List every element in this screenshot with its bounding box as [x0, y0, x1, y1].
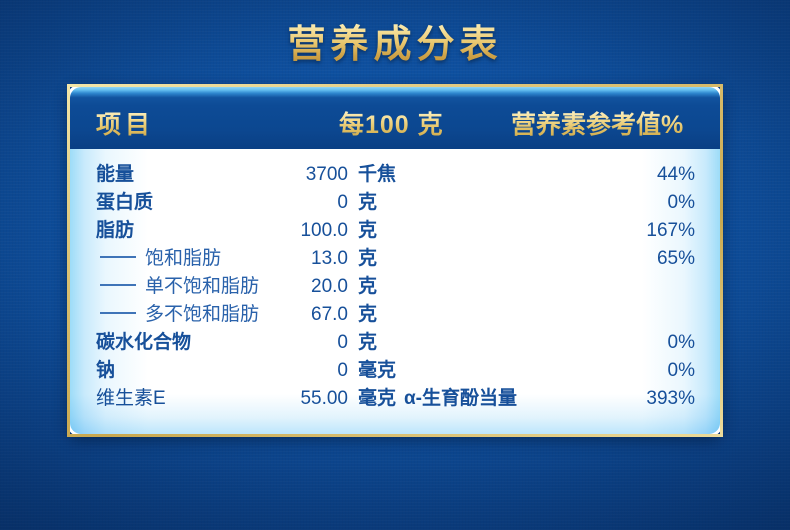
nutrient-unit: 克 — [358, 301, 377, 329]
nutrient-name: 钠 — [96, 357, 115, 385]
sub-item-dash-icon — [100, 256, 136, 258]
nutrient-name: 维生素E — [96, 385, 166, 413]
table-row: 脂肪100.0克167% — [70, 217, 720, 245]
nutrient-value: 20.0 — [220, 273, 348, 301]
nutrient-label: 碳水化合物 — [96, 332, 191, 353]
nutrient-unit: 克 — [358, 245, 377, 273]
nutrient-value: 0 — [220, 357, 348, 385]
nutrient-nrv-percent: 65% — [657, 245, 695, 273]
table-header-row: 项目 每100 克 营养素参考值% — [70, 87, 720, 149]
nutrient-value: 0 — [220, 329, 348, 357]
nutrient-name: 饱和脂肪 — [100, 245, 221, 273]
nutrient-nrv-percent: 0% — [668, 189, 695, 217]
table-row: 能量3700千焦44% — [70, 161, 720, 189]
table-row: 碳水化合物0克0% — [70, 329, 720, 357]
nutrient-value: 55.00 — [220, 385, 348, 413]
nutrient-label: 钠 — [96, 360, 115, 381]
table-row: 蛋白质0克0% — [70, 189, 720, 217]
nutrient-label: 脂肪 — [96, 220, 134, 241]
nutrient-value: 0 — [220, 189, 348, 217]
nutrient-label: 维生素E — [96, 388, 166, 409]
sub-item-dash-icon — [100, 312, 136, 314]
nutrient-value: 3700 — [220, 161, 348, 189]
table-row: 饱和脂肪13.0克65% — [70, 245, 720, 273]
nutrition-facts-panel: 营养成分表 项目 每100 克 营养素参考值% 能量3700千焦44%蛋白质0克… — [0, 0, 790, 530]
nutrient-nrv-percent: 0% — [668, 329, 695, 357]
nutrient-unit: 克 — [358, 189, 377, 217]
column-header-per-100g: 每100 克 — [339, 110, 444, 140]
nutrition-table-card: 项目 每100 克 营养素参考值% 能量3700千焦44%蛋白质0克0%脂肪10… — [67, 84, 723, 437]
nutrient-label: 饱和脂肪 — [145, 248, 221, 269]
column-header-nrv: 营养素参考值% — [511, 110, 683, 140]
nutrient-unit: 克 — [358, 217, 377, 245]
table-row: 单不饱和脂肪20.0克 — [70, 273, 720, 301]
nutrient-label: 能量 — [96, 164, 134, 185]
column-header-item: 项目 — [96, 110, 154, 140]
nutrient-label: 蛋白质 — [96, 192, 153, 213]
nutrient-nrv-percent: 167% — [646, 217, 695, 245]
nutrient-unit: 克 — [358, 273, 377, 301]
nutrient-value: 67.0 — [220, 301, 348, 329]
nutrient-nrv-percent: 0% — [668, 357, 695, 385]
nutrient-name: 碳水化合物 — [96, 329, 191, 357]
table-row: 钠0毫克0% — [70, 357, 720, 385]
nutrient-nrv-percent: 393% — [646, 385, 695, 413]
page-title: 营养成分表 — [0, 22, 790, 68]
table-body: 能量3700千焦44%蛋白质0克0%脂肪100.0克167%饱和脂肪13.0克6… — [70, 149, 720, 434]
nutrient-name: 脂肪 — [96, 217, 134, 245]
table-row: 多不饱和脂肪67.0克 — [70, 301, 720, 329]
nutrient-name: 蛋白质 — [96, 189, 153, 217]
table-header-band: 项目 每100 克 营养素参考值% — [70, 87, 720, 149]
nutrient-unit: 毫克 — [358, 357, 396, 385]
table-row: 维生素E55.00毫克α-生育酚当量393% — [70, 385, 720, 413]
nutrient-unit: 克 — [358, 329, 377, 357]
nutrient-value: 13.0 — [220, 245, 348, 273]
nutrient-name: 能量 — [96, 161, 134, 189]
nutrient-unit: 千焦 — [358, 161, 396, 189]
nutrient-nrv-percent: 44% — [657, 161, 695, 189]
nutrient-note: α-生育酚当量 — [404, 385, 517, 413]
sub-item-dash-icon — [100, 284, 136, 286]
nutrient-value: 100.0 — [220, 217, 348, 245]
nutrient-unit: 毫克 — [358, 385, 396, 413]
